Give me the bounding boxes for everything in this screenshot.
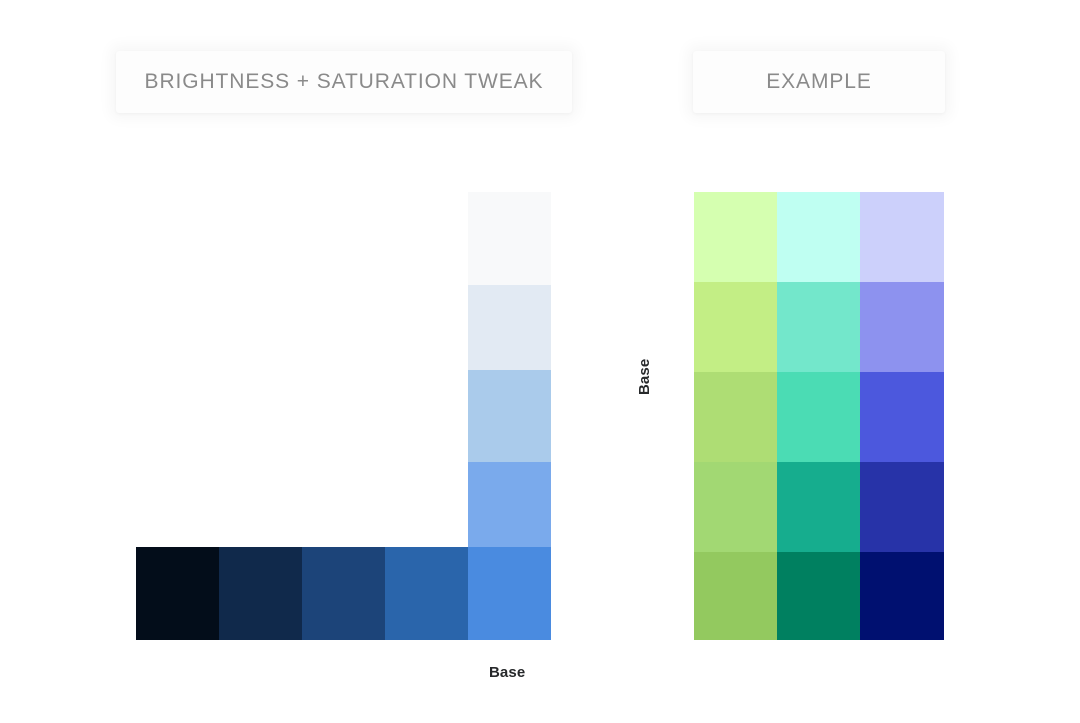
swatch-blue-200[interactable]: [860, 282, 944, 372]
right-panel-title: EXAMPLE: [766, 70, 872, 94]
swatch-tint-4[interactable]: [468, 462, 551, 547]
swatch-tint-2[interactable]: [468, 285, 551, 377]
left-panel-title: BRIGHTNESS + SATURATION TWEAK: [145, 70, 544, 94]
swatch-blue-100[interactable]: [860, 192, 944, 282]
swatch-blue-400[interactable]: [860, 462, 944, 552]
swatch-green-100[interactable]: [694, 192, 777, 282]
swatch-tint-1[interactable]: [468, 192, 551, 285]
swatch-shade-1[interactable]: [136, 547, 219, 640]
swatch-green-400[interactable]: [694, 462, 777, 552]
swatch-blue-300[interactable]: [860, 372, 944, 462]
swatch-teal-200[interactable]: [777, 282, 860, 372]
swatch-teal-100[interactable]: [777, 192, 860, 282]
swatch-shade-4[interactable]: [385, 547, 468, 640]
swatch-teal-300[interactable]: [777, 372, 860, 462]
swatch-base-corner[interactable]: [468, 547, 551, 640]
right-panel-title-chip: EXAMPLE: [693, 51, 945, 113]
swatch-shade-3[interactable]: [302, 547, 385, 640]
swatch-teal-400[interactable]: [777, 462, 860, 552]
swatch-green-200[interactable]: [694, 282, 777, 372]
left-panel-title-chip: BRIGHTNESS + SATURATION TWEAK: [116, 51, 572, 113]
swatch-teal-500[interactable]: [777, 552, 860, 640]
swatch-green-300[interactable]: [694, 372, 777, 462]
left-axis-label-base: Base: [489, 664, 525, 681]
swatch-green-500[interactable]: [694, 552, 777, 640]
swatch-shade-2[interactable]: [219, 547, 302, 640]
swatch-blue-500[interactable]: [860, 552, 944, 640]
right-axis-label-base: Base: [636, 359, 653, 395]
swatch-tint-3[interactable]: [468, 370, 551, 462]
